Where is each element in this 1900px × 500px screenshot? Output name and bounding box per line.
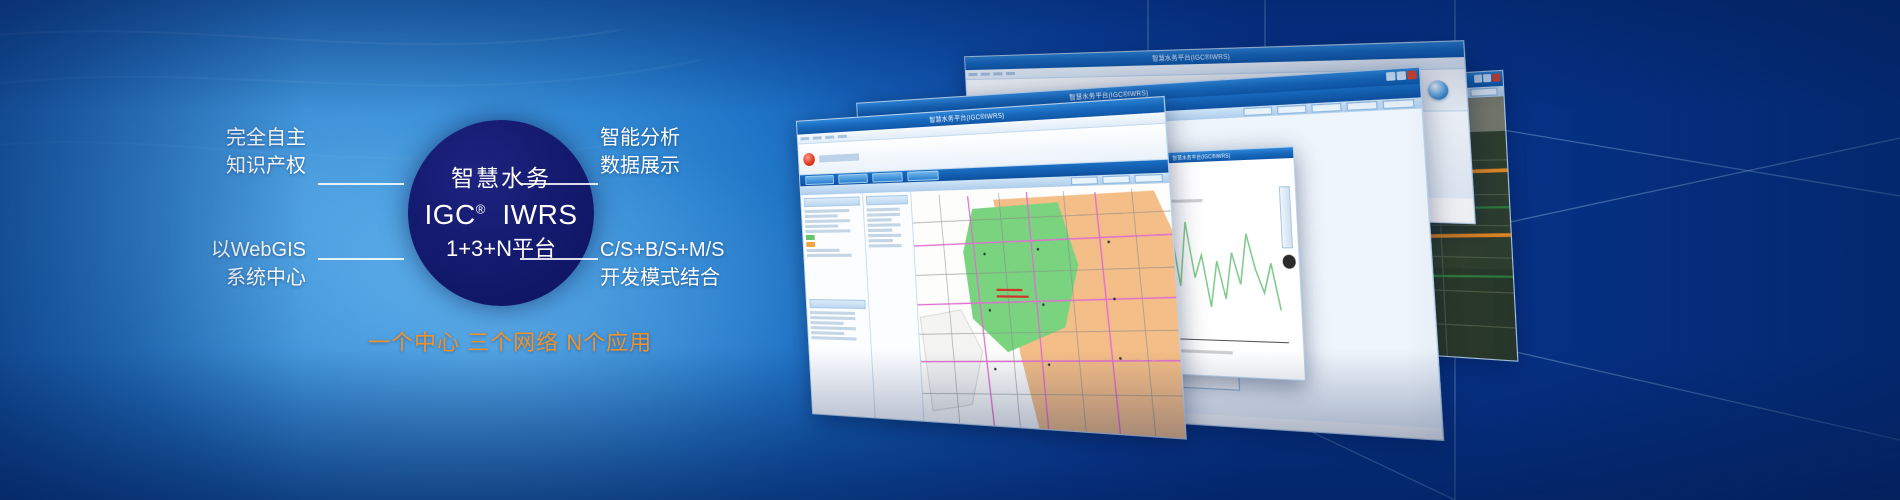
window-gis-desktop[interactable]: 智慧水务平台(IGC®IWRS) (796, 96, 1187, 440)
feature-label-dev-modes: C/S+B/S+M/S 开发模式结合 (600, 236, 725, 293)
connector-line-top-right (520, 183, 598, 185)
toolbar-button[interactable] (1470, 87, 1498, 96)
menu-item[interactable] (1006, 72, 1015, 75)
tool-item[interactable] (869, 244, 902, 247)
marketing-banner: 智慧水务 IGC® IWRS 1+3+N平台 完全自主 知识产权 以WebGIS… (0, 0, 1900, 500)
layer-item[interactable] (804, 209, 849, 213)
subnav-item[interactable] (1382, 99, 1414, 109)
brand-name-label (819, 153, 859, 162)
tool-item[interactable] (867, 213, 900, 217)
nav-tab-dispatch[interactable] (838, 174, 868, 184)
menu-item[interactable] (993, 72, 1002, 75)
banner-tagline: 一个中心 三个网络 N个应用 (368, 325, 652, 357)
subnav-item[interactable] (1346, 101, 1377, 111)
feature-webgis-core-line2: 系统中心 (174, 264, 306, 292)
maximize-icon[interactable] (1483, 74, 1491, 82)
menu-item-file[interactable] (800, 137, 809, 141)
menu-item[interactable] (968, 73, 977, 76)
layer-item[interactable] (805, 229, 850, 233)
feature-intelligent-analysis-line1: 智能分析 (600, 124, 680, 152)
connector-line-bottom-right (520, 258, 598, 260)
feature-label-intelligent-analysis: 智能分析 数据展示 (600, 124, 680, 181)
attribute-panel-header (809, 299, 866, 309)
tool-item[interactable] (867, 208, 900, 212)
hub-product-prefix: IGC (424, 199, 475, 230)
subnav-item[interactable] (1311, 103, 1342, 113)
tool-item[interactable] (868, 239, 893, 242)
layer-item[interactable] (805, 224, 838, 228)
feature-label-independent-ip: 完全自主 知识产权 (184, 124, 306, 181)
attribute-row (810, 321, 843, 325)
maximize-icon[interactable] (1396, 71, 1406, 80)
menu-item-view[interactable] (825, 135, 834, 139)
feature-dev-modes-line1: C/S+B/S+M/S (600, 236, 725, 264)
trend-chart-pan-control[interactable] (1282, 255, 1296, 269)
center-hub-circle: 智慧水务 IGC® IWRS 1+3+N平台 (408, 120, 594, 306)
feature-intelligent-analysis-line2: 数据展示 (600, 152, 680, 180)
layer-item[interactable] (805, 214, 838, 218)
subnav-item[interactable] (1071, 176, 1098, 185)
hub-product-suffix: IWRS (502, 199, 577, 230)
feature-label-webgis-core: 以WebGIS 系统中心 (174, 236, 306, 293)
hub-platform-label: 1+3+N平台 (446, 238, 556, 260)
attribute-row (811, 331, 844, 335)
hub-product-name: IGC® IWRS (424, 201, 577, 229)
layer-item[interactable] (805, 219, 850, 223)
tool-item[interactable] (868, 234, 901, 238)
attribute-row (811, 336, 856, 340)
gis-main-body (801, 183, 1186, 440)
gis-window-title: 智慧水务平台(IGC®IWRS) (929, 110, 1004, 124)
minimize-icon[interactable] (1474, 74, 1482, 82)
tool-panel-header (866, 195, 908, 206)
menu-item-tools[interactable] (838, 135, 847, 139)
attribute-row (810, 311, 855, 315)
tool-item[interactable] (867, 218, 892, 222)
minimize-icon[interactable] (1386, 72, 1396, 81)
subnav-item[interactable] (1243, 107, 1272, 117)
feature-independent-ip-line1: 完全自主 (184, 124, 306, 152)
satellite-map-window-buttons[interactable] (1474, 73, 1500, 82)
ribbon-app-title: 智慧水务平台(IGC®IWRS) (1152, 51, 1230, 63)
attribute-row (810, 316, 855, 320)
layer-panel-header (804, 196, 860, 207)
menu-item-edit[interactable] (813, 136, 822, 140)
layer-item[interactable] (807, 249, 840, 252)
company-logo-icon (803, 152, 815, 166)
nav-tab-monitoring[interactable] (805, 175, 834, 185)
hub-title: 智慧水务 (451, 167, 551, 190)
legend-swatch-green (806, 235, 815, 240)
tool-item[interactable] (867, 223, 900, 227)
connector-line-bottom-left (318, 258, 404, 260)
registered-mark-icon: ® (476, 201, 486, 216)
menu-item[interactable] (981, 73, 990, 76)
close-icon[interactable] (1492, 73, 1500, 81)
legend-swatch-orange (806, 242, 815, 247)
connector-line-top-left (318, 183, 404, 185)
feature-independent-ip-line2: 知识产权 (184, 152, 306, 180)
screenshot-stack: 智慧水务平台(IGC®IWRS) (790, 40, 1900, 460)
feature-webgis-core-line1: 以WebGIS (174, 236, 306, 264)
feature-dev-modes-line2: 开发模式结合 (600, 264, 725, 292)
subnav-item[interactable] (1134, 174, 1163, 183)
attribute-row (811, 326, 856, 330)
subnav-item[interactable] (1102, 175, 1130, 184)
subnav-item[interactable] (1277, 105, 1307, 115)
nav-tab-query[interactable] (907, 171, 939, 182)
analysis-window-buttons[interactable] (1386, 70, 1417, 80)
tool-icon-help[interactable] (1427, 80, 1448, 99)
tool-item[interactable] (868, 229, 893, 233)
nav-tab-pipeline[interactable] (872, 172, 903, 183)
gis-map-canvas[interactable] (911, 183, 1186, 440)
layer-item[interactable] (807, 254, 852, 257)
close-icon[interactable] (1407, 70, 1417, 79)
